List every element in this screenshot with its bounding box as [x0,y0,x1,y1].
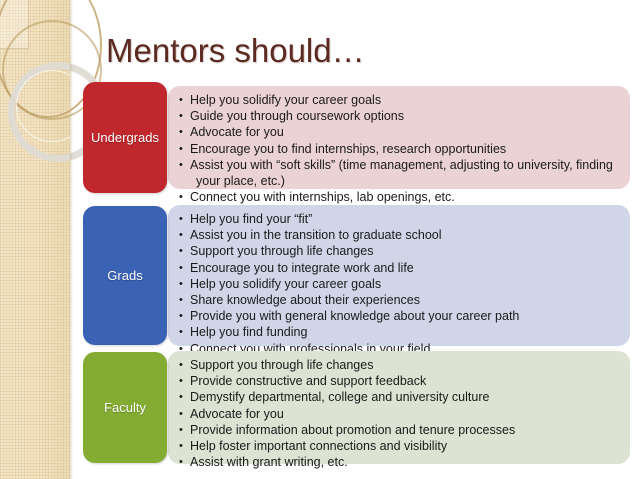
list-item: Provide you with general knowledge about… [178,308,622,324]
panel-grads: Help you find your “fit” Assist you in t… [168,205,630,346]
list-item: Assist you in the transition to graduate… [178,227,622,243]
panel-undergrads: Help you solidify your career goals Guid… [168,86,630,189]
decorative-side-band [0,0,70,479]
slide-canvas: Mentors should… Help you solidify your c… [0,0,638,479]
list-item: Support you through life changes [178,243,622,259]
list-item: Help you find funding [178,324,622,340]
badge-grads: Grads [83,206,167,345]
list-item: Advocate for you [178,124,622,140]
list-item: Assist with grant writing, etc. [178,454,622,470]
list-item-continuation: your place, etc.) [190,173,622,189]
badge-label: Undergrads [91,130,159,145]
list-item: Provide information about promotion and … [178,422,622,438]
list-item: Connect you with internships, lab openin… [178,189,622,205]
list-item: Encourage you to find internships, resea… [178,141,622,157]
list-item: Provide constructive and support feedbac… [178,373,622,389]
decorative-circle-grey-inner-icon [16,70,88,142]
list-item: Help you find your “fit” [178,211,622,227]
list-item: Help you solidify your career goals [178,92,622,108]
bullet-list-undergrads: Help you solidify your career goals Guid… [178,92,622,205]
panel-faculty: Support you through life changes Provide… [168,351,630,464]
list-item: Demystify departmental, college and univ… [178,389,622,405]
bullet-list-faculty: Support you through life changes Provide… [178,357,622,470]
list-item: Encourage you to integrate work and life [178,260,622,276]
page-title: Mentors should… [106,31,365,71]
list-item: Assist you with “soft skills” (time mana… [178,157,622,189]
list-item: Advocate for you [178,406,622,422]
list-item: Support you through life changes [178,357,622,373]
badge-label: Grads [107,268,142,283]
side-band-edge [70,0,73,479]
badge-undergrads: Undergrads [83,82,167,193]
list-item: Share knowledge about their experiences [178,292,622,308]
badge-label: Faculty [104,400,146,415]
list-item: Help foster important connections and vi… [178,438,622,454]
list-item: Help you solidify your career goals [178,276,622,292]
badge-faculty: Faculty [83,352,167,463]
bullet-list-grads: Help you find your “fit” Assist you in t… [178,211,622,357]
list-item: Guide you through coursework options [178,108,622,124]
